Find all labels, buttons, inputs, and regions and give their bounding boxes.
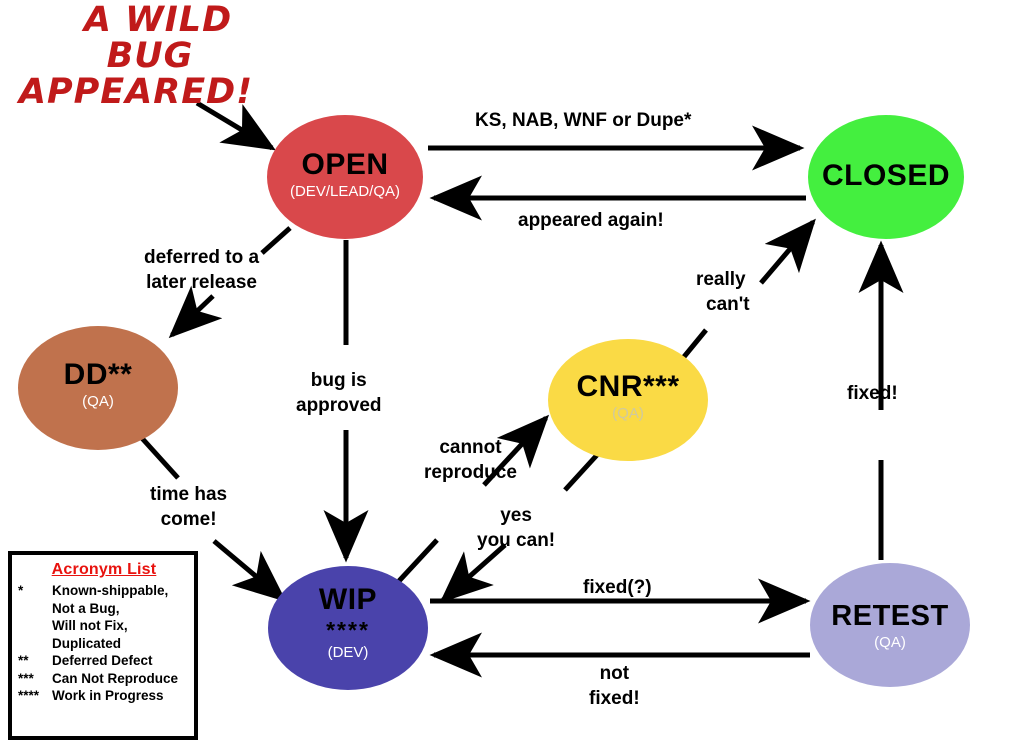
legend-mark: *: [18, 582, 52, 600]
legend-row: * Known-shippable,: [18, 582, 190, 600]
legend-row: **** Work in Progress: [18, 687, 190, 705]
bug-lifecycle-diagram: A WILD BUG APPEARED!: [0, 0, 1024, 749]
legend-mark: [18, 617, 52, 635]
legend-row: Duplicated: [18, 635, 190, 653]
legend-text: Deferred Defect: [52, 652, 190, 670]
legend-mark: **: [18, 652, 52, 670]
legend-text: Can Not Reproduce: [52, 670, 190, 688]
legend-text: Will not Fix,: [52, 617, 190, 635]
node-dd: [18, 326, 178, 450]
node-retest: [810, 563, 970, 687]
legend-text: Not a Bug,: [52, 600, 190, 618]
legend-mark: [18, 635, 52, 653]
legend-text: Work in Progress: [52, 687, 190, 705]
legend-table: * Known-shippable, Not a Bug, Will not F…: [18, 582, 190, 705]
acronym-list-legend: Acronym List * Known-shippable, Not a Bu…: [8, 551, 198, 740]
legend-text: Known-shippable,: [52, 582, 190, 600]
node-closed: [808, 115, 964, 239]
legend-mark: ****: [18, 687, 52, 705]
legend-row: *** Can Not Reproduce: [18, 670, 190, 688]
legend-mark: ***: [18, 670, 52, 688]
legend-row: Will not Fix,: [18, 617, 190, 635]
legend-row: Not a Bug,: [18, 600, 190, 618]
legend-title: Acronym List: [18, 561, 190, 579]
node-wip: [268, 566, 428, 690]
node-cnr: [548, 339, 708, 461]
legend-text: Duplicated: [52, 635, 190, 653]
legend-row: ** Deferred Defect: [18, 652, 190, 670]
legend-mark: [18, 600, 52, 618]
node-open: [267, 115, 423, 239]
